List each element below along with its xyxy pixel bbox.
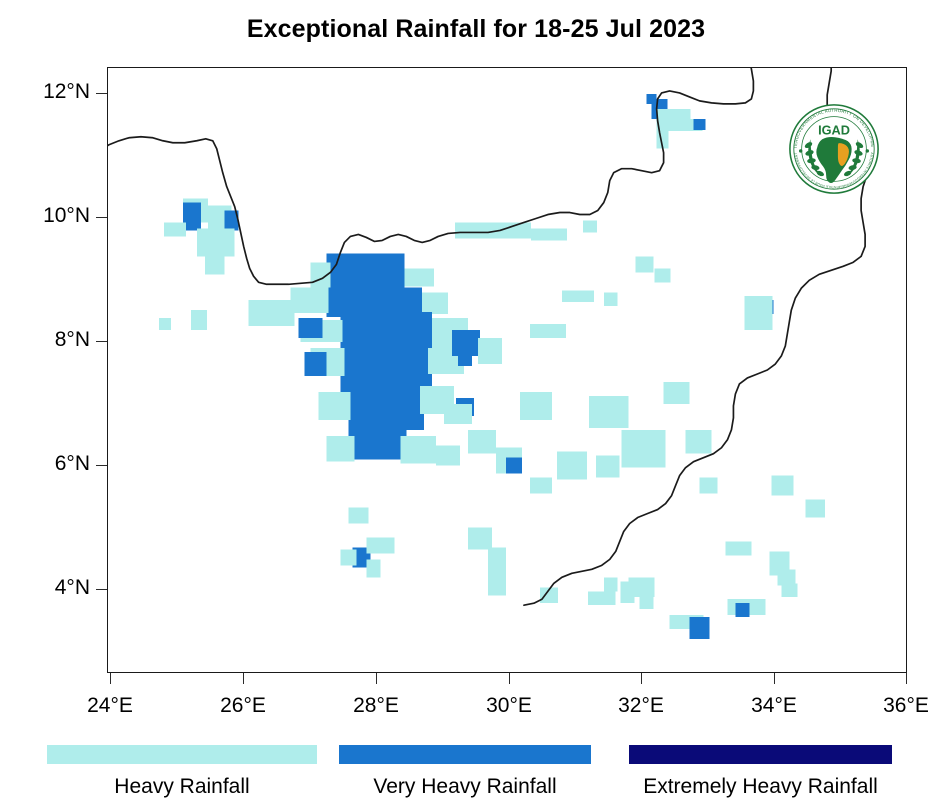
rainfall-cell [562,290,594,302]
x-tick-0 [110,673,111,684]
rainfall-cell [531,228,567,240]
rainfall-cell [735,603,749,617]
y-axis-label-10n: 10°N [0,204,90,228]
rainfall-cell [444,404,472,424]
rainfall-cell [458,352,472,366]
rainfall-cell [340,549,356,565]
rainfall-cell [557,452,587,480]
rainfall-cell [366,537,394,553]
legend-entry-very-heavy: Very Heavy Rainfall [339,745,591,799]
rainfall-cell [436,446,460,466]
rainfall-cell [583,220,597,232]
legend: Heavy Rainfall Very Heavy Rainfall Extre… [0,745,952,812]
y-tick-0 [96,93,107,94]
rainfall-cell [744,296,772,330]
rainfall-cell [340,348,432,396]
rainfall-cell [468,430,496,454]
legend-swatch-heavy [47,745,317,764]
y-axis-label-4n: 4°N [0,576,90,600]
igad-logo: INTERGOVERNMENTAL AUTHORITY ON DEVELOPME… [785,100,883,198]
rainfall-cell [159,318,171,330]
legend-label-extremely-heavy: Extremely Heavy Rainfall [629,775,892,799]
rainfall-cell [348,508,368,524]
rainfall-cell [506,458,522,474]
x-tick-1 [243,673,244,684]
rainfall-cell [604,577,618,591]
rainfall-cell [299,318,323,338]
x-axis-label-28e: 28°E [321,694,431,718]
admin-boundaries-layer [108,68,873,605]
rainfall-cell [468,527,492,549]
y-tick-2 [96,341,107,342]
x-axis-label-24e: 24°E [55,694,165,718]
rainfall-cell [622,430,666,468]
x-axis-label-34e: 34°E [719,694,829,718]
legend-label-heavy: Heavy Rainfall [47,775,317,799]
rainfall-raster-layer [159,94,825,639]
legend-swatch-extremely-heavy [629,745,892,764]
x-tick-4 [641,673,642,684]
rainfall-cell [530,324,566,338]
rainfall-cell [404,268,434,286]
x-axis-label-30e: 30°E [454,694,564,718]
rainfall-cell [455,222,531,238]
country-border-south-sudan [108,68,873,605]
rainfall-cell [478,338,502,364]
rainfall-cell [291,287,329,313]
legend-swatch-very-heavy [339,745,591,764]
rainfall-cell [655,268,671,282]
rainfall-cell [326,436,354,462]
legend-entry-extremely-heavy: Extremely Heavy Rainfall [629,745,892,799]
rainfall-cell [366,559,380,577]
rainfall-cell [636,256,654,272]
rainfall-cell [725,541,751,555]
x-tick-5 [774,673,775,684]
rainfall-cell [588,591,616,605]
rainfall-cell [589,396,629,428]
rainfall-cell [771,476,793,496]
rainfall-cell [686,430,712,454]
rainfall-cell [694,119,706,130]
rainfall-cell [422,292,448,314]
rainfall-cell [777,569,795,585]
rainfall-cell [191,310,207,330]
rainfall-cell [488,547,506,595]
rainfall-cell [305,352,327,376]
rainfall-cell [690,617,710,639]
rainfall-cell [249,300,295,326]
x-tick-6 [906,673,907,684]
y-tick-1 [96,217,107,218]
rainfall-cell [640,597,654,609]
rainfall-cell [400,436,436,464]
rainfall-cell [596,456,620,478]
rainfall-cell [164,222,186,236]
y-axis-label-12n: 12°N [0,80,90,104]
rainfall-cell [664,382,690,404]
rainfall-cell [530,478,552,494]
legend-label-very-heavy: Very Heavy Rainfall [339,775,591,799]
rainfall-cell [205,250,225,274]
rainfall-map-page: Exceptional Rainfall for 18-25 Jul 2023 … [0,0,952,812]
x-tick-3 [509,673,510,684]
x-axis-label-26e: 26°E [188,694,298,718]
rainfall-cell [348,390,424,430]
x-axis-label-32e: 32°E [586,694,696,718]
legend-entry-heavy: Heavy Rainfall [47,745,317,799]
y-tick-3 [96,465,107,466]
rainfall-cell [604,292,618,306]
y-axis-label-6n: 6°N [0,452,90,476]
x-tick-2 [376,673,377,684]
rainfall-cell [781,583,797,597]
igad-acronym: IGAD [818,122,850,137]
rainfall-cell [621,581,635,603]
y-axis-label-8n: 8°N [0,328,90,352]
rainfall-cell [520,392,552,420]
rainfall-cell [700,478,718,494]
page-title: Exceptional Rainfall for 18-25 Jul 2023 [0,15,952,44]
rainfall-cell [805,500,825,518]
rainfall-cell [310,262,330,290]
y-tick-4 [96,589,107,590]
x-axis-label-36e: 36°E [851,694,952,718]
rainfall-cell [348,430,406,460]
rainfall-cell [318,392,350,420]
